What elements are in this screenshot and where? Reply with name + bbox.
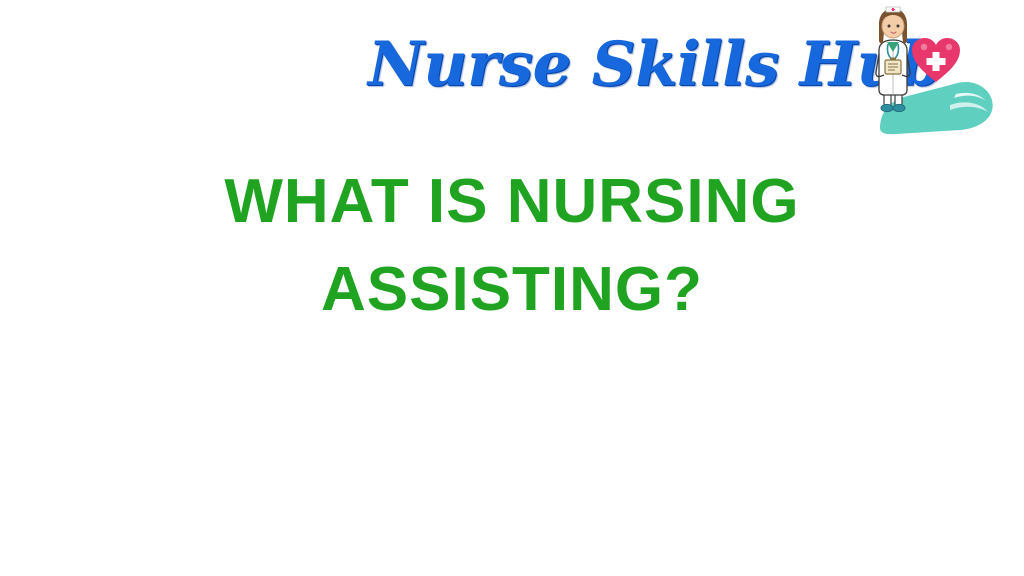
page-title-line-2: ASSISTING?	[0, 248, 1024, 332]
nurse-heart-hand-logo	[862, 2, 1008, 136]
slide-canvas: Nurse Skills Hub	[0, 0, 1024, 576]
page-title: WHAT IS NURSING ASSISTING?	[0, 160, 1024, 332]
slide-body-area	[0, 340, 1024, 576]
brand-header: Nurse Skills Hub	[0, 0, 1024, 140]
nurse-figure-icon	[876, 7, 910, 112]
brand-wordmark: Nurse Skills Hub	[368, 22, 874, 108]
page-title-line-1: WHAT IS NURSING	[0, 160, 1024, 244]
heart-with-cross-icon	[912, 38, 960, 82]
